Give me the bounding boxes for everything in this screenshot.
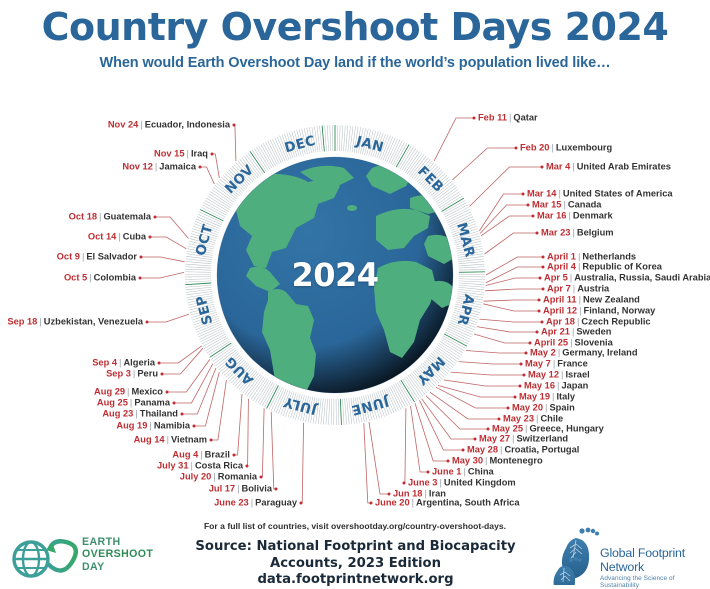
label-countries: Finland, Norway (584, 305, 656, 315)
label-date: June 1 (432, 466, 461, 476)
label-countries: Algeria (123, 357, 155, 367)
leader-dot (139, 277, 142, 280)
country-label: May 7|France (525, 359, 588, 368)
leader-line (438, 385, 515, 397)
country-label: July 31|Costa Rica (157, 461, 243, 470)
country-label: Mar 16|Denmark (537, 211, 613, 220)
country-label: Aug 14|Vietnam (134, 435, 207, 444)
label-date: Oct 18 (69, 211, 97, 221)
leader-line (234, 394, 242, 455)
infographic-root: Country Overshoot Days 2024 When would E… (0, 0, 710, 585)
country-label: May 30|Montenegro (452, 456, 543, 465)
leader-line (486, 267, 543, 283)
leader-line (436, 387, 508, 408)
country-label: Sep 3|Peru (106, 369, 158, 378)
label-countries: Thailand (140, 408, 178, 418)
label-date: Feb 11 (478, 112, 507, 122)
country-label: May 19|Italy (519, 392, 575, 401)
country-label: May 20|Spain (512, 403, 575, 412)
country-label: June 20|Argentina, South Africa (375, 498, 520, 507)
label-countries: Denmark (573, 210, 613, 220)
label-countries: Cuba (123, 231, 146, 241)
label-countries: Croatia, Portugal (504, 444, 579, 454)
leader-dot (538, 310, 541, 313)
label-countries: Peru (137, 368, 158, 378)
gfn-logo-wordmark: Global Footprint Network Advancing the S… (600, 546, 710, 589)
label-date: Mar 23 (541, 227, 570, 237)
leader-dot (233, 454, 236, 457)
label-date: April 25 (534, 337, 568, 347)
leader-dot (149, 236, 152, 239)
source-line-2: data.footprintnetwork.org (168, 572, 543, 589)
label-date: Mar 14 (527, 188, 556, 198)
leader-line (271, 412, 276, 489)
leader-dot (140, 256, 143, 259)
label-date: Oct 14 (88, 231, 116, 241)
leader-line (261, 408, 264, 477)
leader-line (247, 399, 248, 466)
leader-dot (487, 428, 490, 431)
label-countries: Costa Rica (195, 460, 243, 470)
label-date: April 1 (547, 251, 576, 261)
country-label: May 25|Greece, Hungary (492, 424, 604, 433)
label-date: Oct 9 (57, 251, 80, 261)
country-label: April 25|Slovenia (534, 338, 613, 347)
leader-dot (181, 413, 184, 416)
footer-note: For a full list of countries, visit over… (0, 521, 710, 531)
leader-dot (260, 476, 263, 479)
leader-line (369, 422, 389, 494)
label-date: June 3 (408, 477, 437, 487)
label-date: July 20 (180, 471, 212, 481)
leader-dot (529, 342, 532, 345)
country-label: Aug 23|Thailand (102, 409, 178, 418)
country-label: April 11|New Zealand (543, 295, 640, 304)
label-date: May 27 (479, 433, 510, 443)
leader-line (140, 272, 184, 278)
label-countries: Germany, Ireland (562, 347, 637, 357)
leader-dot (536, 331, 539, 334)
leader-line (459, 362, 521, 364)
label-countries: Netherlands (582, 251, 636, 261)
label-countries: Ecuador, Indonesia (145, 119, 230, 129)
label-countries: Brazil (205, 449, 230, 459)
country-label: Sep 4|Algeria (92, 358, 155, 367)
country-label: Sep 18|Uzbekistan, Venezuela (7, 317, 143, 326)
label-date: Aug 29 (94, 386, 125, 396)
label-countries: Canada (568, 199, 602, 209)
leader-dot (403, 482, 406, 485)
leader-line (444, 380, 520, 386)
country-label: Aug 4|Brazil (172, 450, 230, 459)
country-label: July 20|Romania (180, 472, 257, 481)
label-countries: Panama (134, 397, 170, 407)
country-label: Aug 19|Namibia (116, 421, 190, 430)
country-label: Oct 9|El Salvador (57, 252, 137, 261)
leader-dot (193, 425, 196, 428)
label-date: Apr 21 (541, 326, 570, 336)
label-date: Sep 3 (106, 368, 131, 378)
leader-dot (158, 362, 161, 365)
month-label-july: JULY (282, 393, 320, 417)
label-countries: Israel (565, 369, 589, 379)
label-date: June 20 (375, 497, 410, 507)
label-countries: Slovenia (575, 337, 613, 347)
country-label: Mar 23|Belgium (541, 228, 614, 237)
leader-line (477, 327, 537, 332)
leader-line (147, 314, 189, 322)
label-date: June 23 (214, 497, 249, 507)
leader-line (474, 334, 530, 343)
eod-logo-line-1: EARTH (82, 536, 153, 548)
country-label: Mar 15|Canada (532, 200, 601, 209)
label-countries: China (468, 466, 494, 476)
label-countries: Argentina, South Africa (416, 497, 519, 507)
country-label: June 1|China (432, 467, 494, 476)
label-countries: Republic of Korea (582, 261, 662, 271)
label-countries: New Zealand (583, 294, 640, 304)
country-label: May 12|Israel (528, 370, 590, 379)
leader-dot (498, 418, 501, 421)
leader-dot (447, 460, 450, 463)
leader-dot (532, 215, 535, 218)
country-label: Feb 11|Qatar (478, 113, 538, 122)
label-countries: United States of America (563, 188, 673, 198)
footer-source: Source: National Footprint and Biocapaci… (168, 539, 543, 589)
label-date: May 23 (503, 413, 534, 423)
leader-line (485, 289, 543, 291)
leader-dot (300, 502, 303, 505)
leader-dot (370, 502, 373, 505)
leader-dot (233, 124, 236, 127)
country-label: May 2|Germany, Ireland (530, 348, 638, 357)
leader-line (212, 154, 219, 178)
label-date: Apr 7 (547, 283, 571, 293)
label-date: Nov 15 (154, 148, 185, 158)
leader-line (479, 194, 523, 231)
country-label: May 28|Croatia, Portugal (467, 445, 579, 454)
label-countries: Chile (540, 413, 563, 423)
country-label: Mar 4|United Arab Emirates (546, 162, 671, 171)
leader-line (426, 396, 488, 429)
leader-dot (507, 407, 510, 410)
country-label: May 23|Chile (503, 414, 563, 423)
label-countries: Namibia (154, 420, 190, 430)
leader-dot (525, 352, 528, 355)
label-date: Aug 25 (97, 397, 128, 407)
leader-dot (427, 471, 430, 474)
country-label: May 27|Switzerland (479, 434, 568, 443)
label-countries: Vietnam (171, 434, 207, 444)
leader-dot (541, 166, 544, 169)
label-date: April 4 (547, 261, 576, 271)
label-date: May 25 (492, 423, 523, 433)
leader-line (479, 319, 542, 322)
label-countries: Mexico (131, 386, 163, 396)
country-label: Nov 12|Jamaica (122, 162, 196, 171)
label-date: May 19 (519, 391, 550, 401)
leader-dot (539, 277, 542, 280)
label-date: May 20 (512, 402, 543, 412)
leader-dot (246, 465, 249, 468)
country-label: Jul 17|Bolivia (209, 484, 272, 493)
global-footprint-network-logo (554, 528, 599, 585)
label-countries: Luxembourg (556, 142, 612, 152)
label-countries: Austria (577, 283, 609, 293)
label-date: Sep 18 (7, 316, 37, 326)
leader-line (301, 423, 304, 503)
label-countries: El Salvador (86, 251, 137, 261)
label-countries: Czech Republic (581, 316, 650, 326)
country-label: Feb 20|Luxembourg (520, 143, 612, 152)
label-date: May 16 (524, 380, 555, 390)
label-date: May 12 (528, 369, 559, 379)
leader-dot (146, 321, 149, 324)
leader-dot (542, 288, 545, 291)
label-countries: Sweden (576, 326, 611, 336)
source-line-1: Source: National Footprint and Biocapaci… (168, 539, 543, 572)
leader-dot (199, 166, 202, 169)
leader-dot (527, 204, 530, 207)
leader-dot (536, 232, 539, 235)
label-date: Mar 4 (546, 161, 570, 171)
label-date: Aug 14 (134, 434, 165, 444)
leader-dot (522, 193, 525, 196)
earth-overshoot-day-logo (14, 541, 76, 576)
leader-dot (542, 266, 545, 269)
eod-logo-wordmark: EARTH OVERSHOOT DAY (82, 536, 153, 573)
leader-dot (473, 117, 476, 120)
country-label: Apr 5|Australia, Russia, Saudi Arabia (544, 273, 710, 282)
label-countries: Bolivia (242, 483, 272, 493)
leader-line (364, 423, 371, 503)
label-date: Mar 16 (537, 210, 566, 220)
label-date: May 30 (452, 455, 483, 465)
label-countries: Australia, Russia, Saudi Arabia (574, 272, 710, 282)
label-date: Aug 4 (172, 449, 198, 459)
label-countries: Spain (549, 402, 574, 412)
leader-dot (523, 374, 526, 377)
label-date: Sep 4 (92, 357, 117, 367)
leader-dot (514, 396, 517, 399)
leader-dot (173, 402, 176, 405)
leader-line (452, 148, 516, 180)
label-date: Oct 5 (64, 272, 87, 282)
leader-dot (154, 216, 157, 219)
leader-line (162, 348, 203, 374)
label-countries: Montenegro (489, 455, 542, 465)
label-date: Nov 24 (108, 119, 139, 129)
leader-line (174, 364, 213, 403)
country-label: April 1|Netherlands (547, 252, 636, 261)
label-countries: Italy (556, 391, 575, 401)
label-countries: Colombia (94, 272, 136, 282)
label-date: May 7 (525, 358, 551, 368)
country-label: April 12|Finland, Norway (543, 306, 655, 315)
country-label: June 23|Paraguay (214, 498, 297, 507)
leader-dot (474, 438, 477, 441)
eod-logo-line-3: DAY (82, 561, 153, 573)
leader-line (234, 125, 236, 161)
label-date: Nov 12 (122, 161, 153, 171)
label-countries: United Kingdom (444, 477, 516, 487)
label-date: Apr 18 (546, 316, 575, 326)
label-countries: Uzbekistan, Venezuela (44, 316, 143, 326)
label-date: May 2 (530, 347, 556, 357)
label-date: July 31 (157, 460, 189, 470)
leader-dot (520, 363, 523, 366)
gfn-logo-tagline: Advancing the Science of Sustainability (600, 575, 710, 589)
center-year: 2024 (291, 256, 378, 294)
leader-line (200, 167, 214, 184)
country-label: Oct 5|Colombia (64, 273, 136, 282)
leader-dot (388, 493, 391, 496)
leader-dot (211, 153, 214, 156)
leader-line (486, 257, 543, 275)
leader-line (141, 257, 185, 262)
country-label: Apr 21|Sweden (541, 327, 612, 336)
leader-dot (541, 321, 544, 324)
leader-dot (515, 147, 518, 150)
label-countries: Romania (218, 471, 257, 481)
leader-dot (462, 449, 465, 452)
country-label: Oct 18|Guatemala (69, 212, 151, 221)
leader-dot (538, 299, 541, 302)
label-date: Apr 5 (544, 272, 568, 282)
label-countries: Belgium (577, 227, 614, 237)
leader-line (211, 380, 226, 440)
leader-dot (166, 391, 169, 394)
leader-dot (275, 488, 278, 491)
label-date: Feb 20 (520, 142, 549, 152)
leader-line (404, 408, 406, 483)
label-date: Jul 17 (209, 483, 235, 493)
leader-line (451, 372, 524, 375)
label-date: Aug 19 (116, 420, 147, 430)
label-countries: Paraguay (255, 497, 297, 507)
leader-dot (210, 439, 213, 442)
leader-dot (542, 256, 545, 259)
label-date: Mar 15 (532, 199, 561, 209)
country-label: May 16|Japan (524, 381, 588, 390)
label-date: Aug 23 (102, 408, 133, 418)
country-label: Apr 18|Czech Republic (546, 317, 651, 326)
leader-line (434, 118, 474, 161)
label-countries: Guatemala (103, 211, 151, 221)
country-label: Aug 25|Panama (97, 398, 170, 407)
country-label: Mar 14|United States of America (527, 189, 673, 198)
label-date: April 11 (543, 294, 577, 304)
label-countries: Switzerland (516, 433, 568, 443)
label-countries: Greece, Hungary (529, 423, 603, 433)
leader-line (159, 346, 202, 363)
leader-line (430, 392, 499, 419)
label-countries: United Arab Emirates (577, 161, 671, 171)
country-label: Oct 14|Cuba (88, 232, 146, 241)
country-label: Aug 29|Mexico (94, 387, 163, 396)
leader-line (466, 351, 526, 354)
label-countries: France (557, 358, 588, 368)
leader-line (155, 217, 189, 239)
country-label: Nov 15|Iraq (154, 149, 208, 158)
label-countries: Qatar (513, 112, 537, 122)
label-countries: Japan (561, 380, 588, 390)
gfn-logo-name: Global Footprint Network (600, 546, 710, 574)
leader-line (194, 372, 219, 426)
country-label: Nov 24|Ecuador, Indonesia (108, 120, 230, 129)
label-date: April 12 (543, 305, 577, 315)
country-label: June 3|United Kingdom (408, 478, 516, 487)
leader-line (150, 237, 186, 249)
eod-logo-line-2: OVERSHOOT (82, 548, 153, 560)
country-label: Apr 7|Austria (547, 284, 609, 293)
label-date: May 28 (467, 444, 498, 454)
leader-dot (161, 373, 164, 376)
country-label: April 4|Republic of Korea (547, 262, 662, 271)
label-countries: Iraq (191, 148, 208, 158)
leader-line (484, 300, 539, 301)
label-countries: Jamaica (159, 161, 196, 171)
leader-line (485, 233, 538, 254)
leader-dot (519, 385, 522, 388)
leader-line (483, 304, 539, 311)
